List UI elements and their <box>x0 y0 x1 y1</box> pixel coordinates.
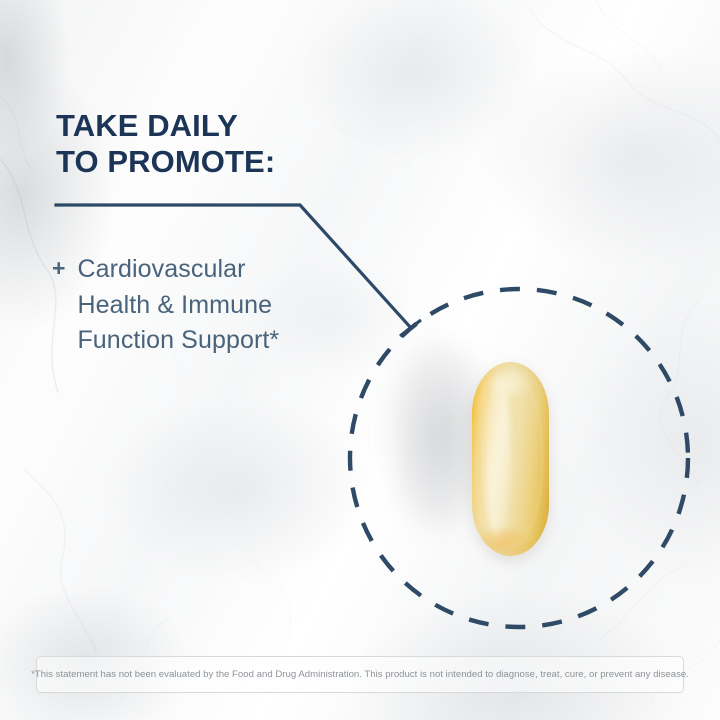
headline: TAKE DAILY TO PROMOTE: <box>56 108 386 181</box>
capsule-body <box>472 362 549 556</box>
benefit-text: Cardiovascular Health & Immune Function … <box>77 252 279 359</box>
capsule-inner-ring <box>482 374 543 547</box>
product-benefit-card: TAKE DAILY TO PROMOTE: + Cardiovascular … <box>0 0 720 720</box>
disclaimer-text: *This statement has not been evaluated b… <box>31 669 689 681</box>
benefit-bullet: + Cardiovascular Health & Immune Functio… <box>52 252 382 359</box>
plus-icon: + <box>52 252 65 280</box>
disclaimer-box: *This statement has not been evaluated b… <box>36 656 684 693</box>
softgel-capsule-photo <box>349 289 691 631</box>
capsule-top-sheen <box>487 366 532 397</box>
capsule-shadow <box>387 337 483 533</box>
capsule-bottom-glow <box>478 529 532 556</box>
